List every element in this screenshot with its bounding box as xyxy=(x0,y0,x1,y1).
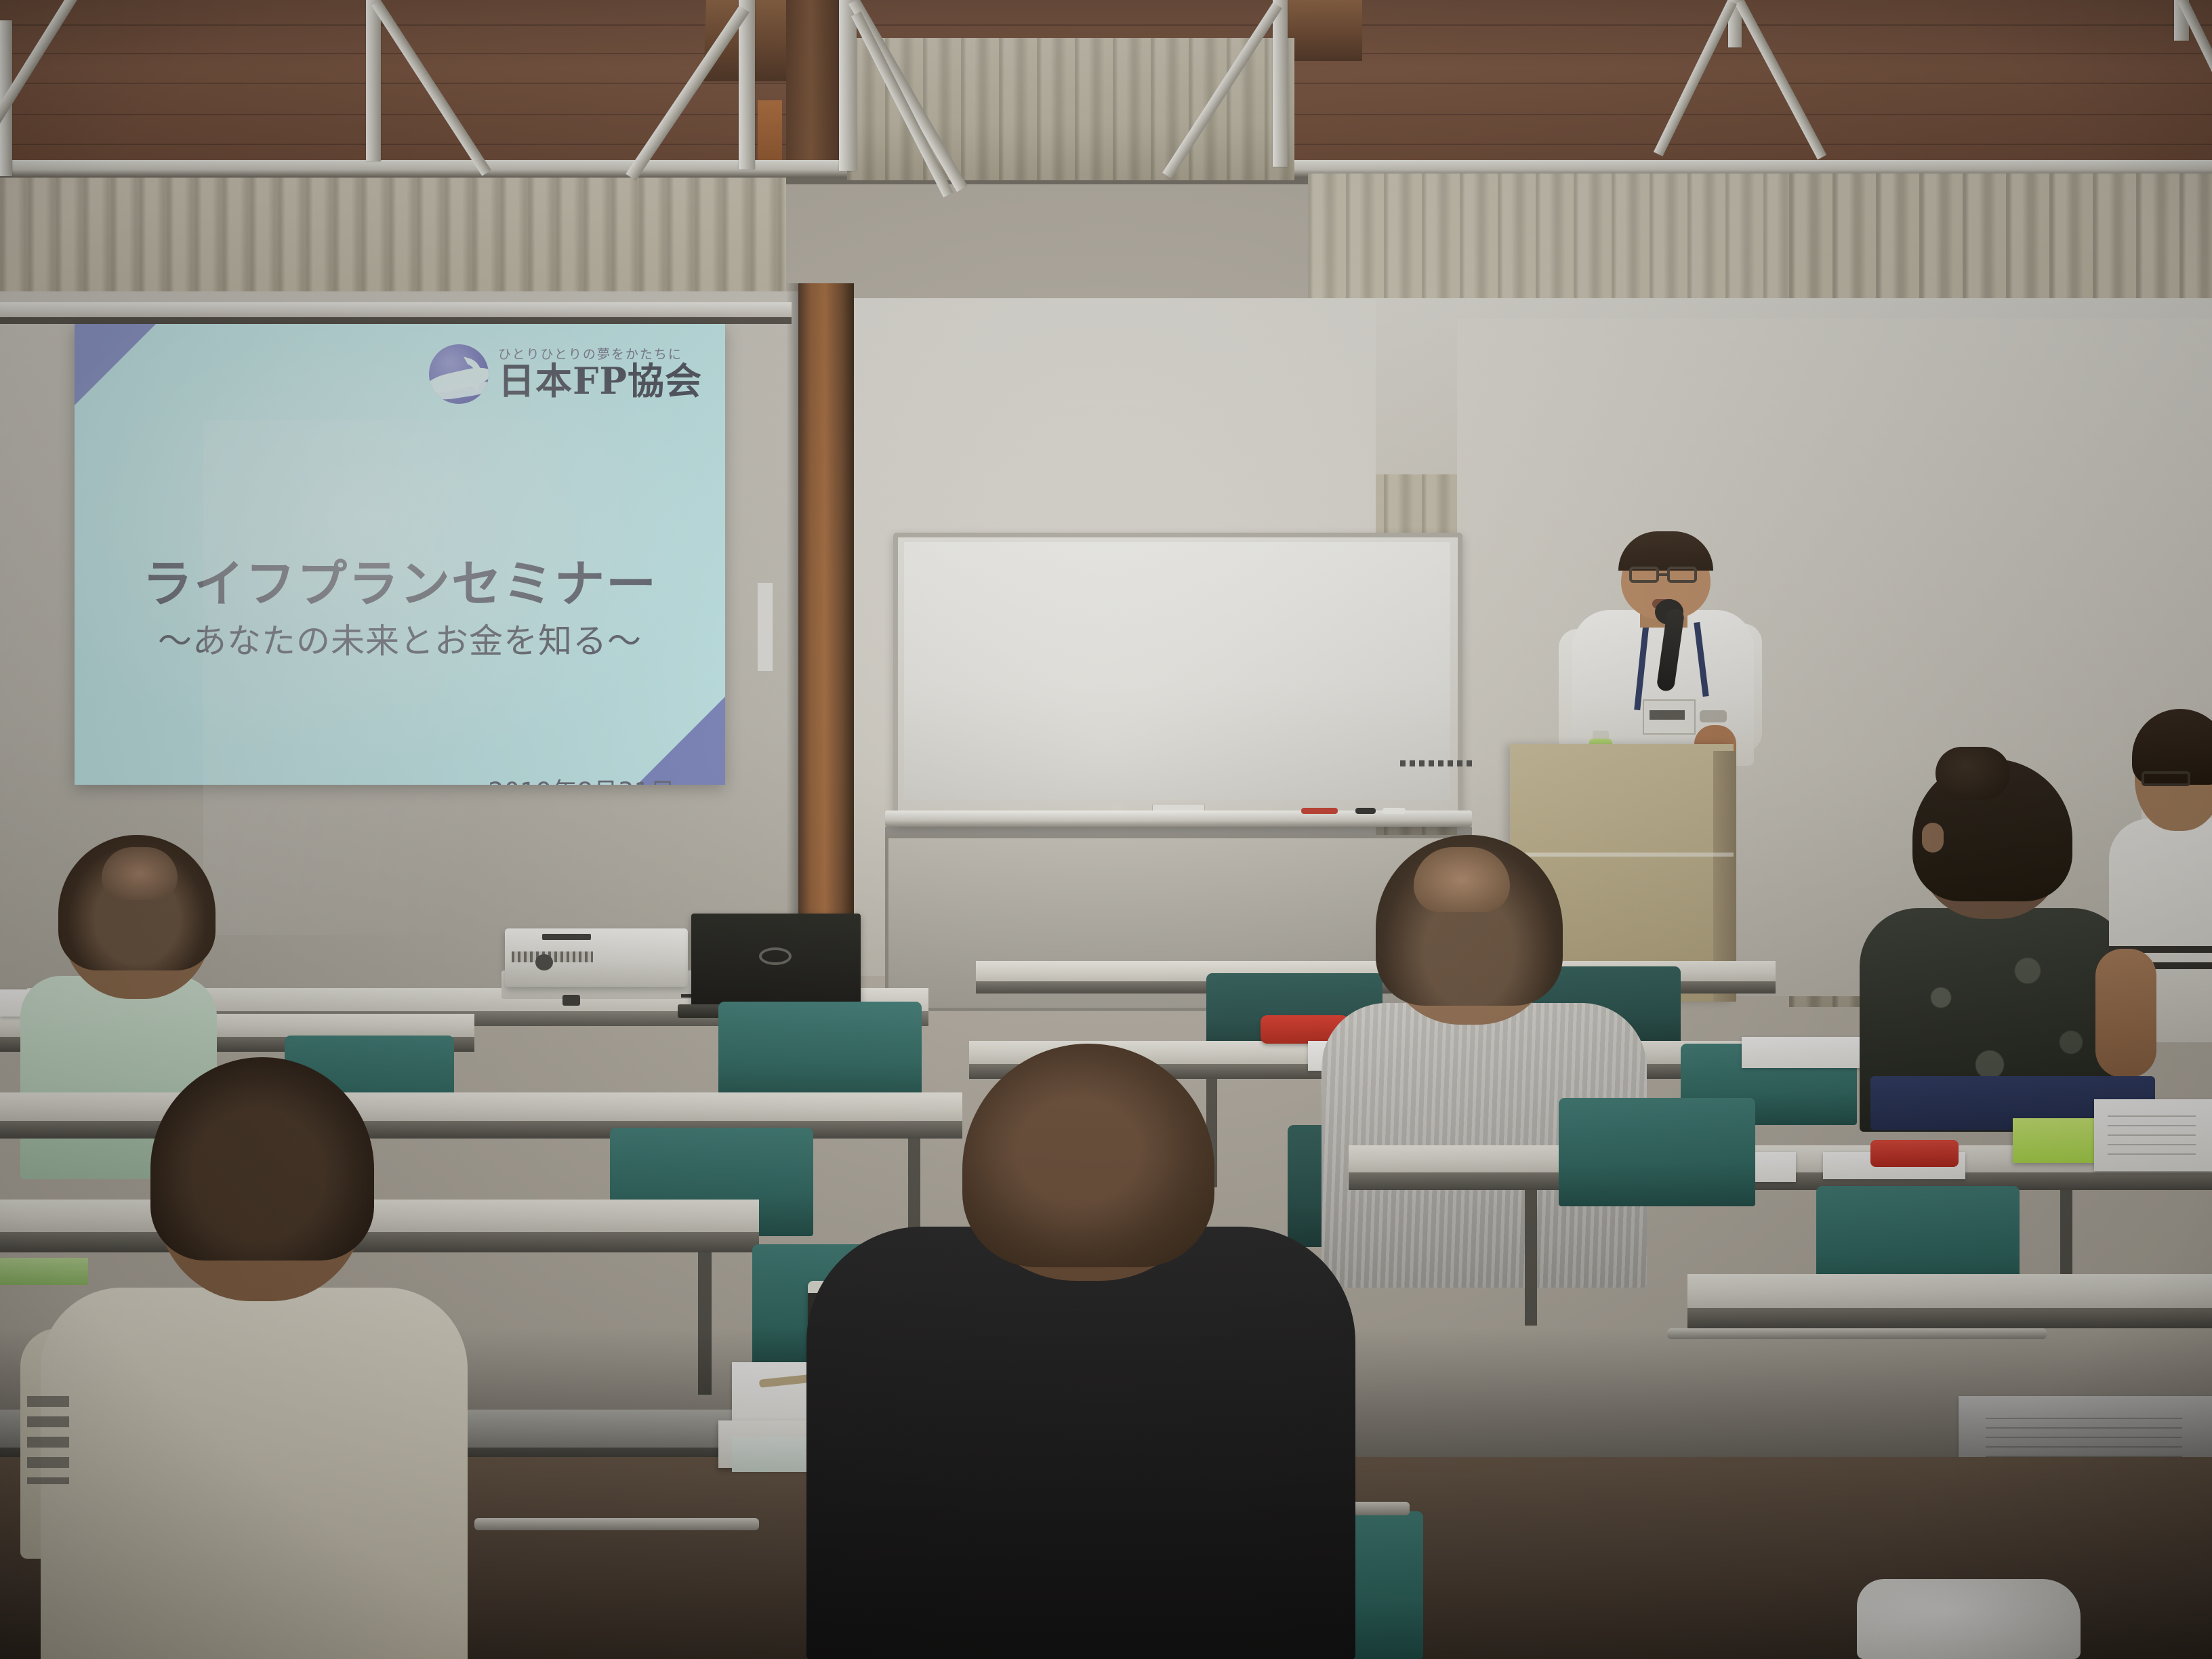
chair-back xyxy=(718,1002,922,1103)
fp-globe-wave-mark-icon xyxy=(429,344,489,404)
wooden-post xyxy=(798,283,854,1022)
attendee-black-top-torso xyxy=(806,1227,1355,1659)
slide-title: ライフプランセミナー xyxy=(75,544,725,616)
projector-top-slot xyxy=(542,934,591,940)
green-item-left xyxy=(0,1258,88,1285)
projection-screen: ひとりひとりの夢をかたちに 日本FP協会 ライフプランセミナー ～あなたの未来と… xyxy=(75,324,725,785)
projector-lens-icon xyxy=(535,954,553,970)
eyeglasses-icon xyxy=(1629,567,1659,583)
black-marker-icon xyxy=(1355,808,1376,814)
screen-frame-top xyxy=(0,302,792,317)
desk-left-front xyxy=(0,1200,759,1232)
projector-foot xyxy=(562,995,580,1006)
whiteboard-magnets xyxy=(1400,760,1475,766)
eyeglasses-bridge xyxy=(1659,573,1668,576)
desk-left-middle xyxy=(0,1092,962,1121)
truss-vertical xyxy=(739,0,755,169)
slide-subtitle: ～あなたの未来とお金を知る～ xyxy=(75,614,725,663)
white-marker-icon xyxy=(1382,808,1406,814)
desk-leg xyxy=(1525,1190,1537,1326)
desk-edge xyxy=(0,1121,962,1139)
name-badge-text xyxy=(1650,710,1685,720)
eyeglasses-icon xyxy=(2142,771,2190,786)
slide-date: 2019年8月31日 xyxy=(488,771,675,785)
attendee-cream-tee-torso xyxy=(41,1288,468,1659)
whiteboard-tray-shadow xyxy=(885,827,1472,835)
screen-frame-shadow xyxy=(0,317,792,324)
chair-back xyxy=(1559,1098,1755,1206)
post-shadow xyxy=(786,283,800,1022)
truss-vertical xyxy=(366,0,381,161)
attendee-grey-stripe-scalp xyxy=(1414,847,1510,912)
logo-name: 日本FP協会 xyxy=(498,362,702,401)
red-marker-icon xyxy=(1301,808,1338,814)
attendee-floral-top-hair-bun xyxy=(1935,747,2010,800)
attendee-floral-top-ear xyxy=(1922,823,1944,853)
fp-association-logo: ひとりひとりの夢をかたちに 日本FP協会 xyxy=(429,344,702,404)
truss-vertical xyxy=(839,0,857,171)
podium-seam xyxy=(1510,853,1734,857)
desk-edge xyxy=(0,1232,759,1252)
attendee-white-trim-arm xyxy=(2095,949,2156,1078)
whiteboard-surface xyxy=(904,542,1450,800)
white-cloth xyxy=(1857,1579,2081,1659)
projected-slide: ひとりひとりの夢をかたちに 日本FP協会 ライフプランセミナー ～あなたの未来と… xyxy=(75,324,725,785)
wooden-post-upper xyxy=(786,0,847,169)
paper-text-lines xyxy=(2108,1115,2196,1155)
seminar-room-photo: ひとりひとりの夢をかたちに 日本FP協会 ライフプランセミナー ～あなたの未来と… xyxy=(0,0,2212,1659)
eyeglasses-icon xyxy=(1667,567,1697,583)
wristwatch-icon xyxy=(1700,710,1727,722)
desk-edge xyxy=(1687,1308,2212,1328)
sleeve-print-graphic xyxy=(27,1396,69,1484)
fujitsu-infinity-logo-icon xyxy=(759,947,792,965)
desk-front-right xyxy=(1687,1274,2212,1308)
wall-notice-strip xyxy=(758,583,773,671)
chair-frame-rail xyxy=(474,1518,759,1530)
truss-vertical xyxy=(1273,0,1288,167)
attendee-mint-shirt-scalp xyxy=(102,847,178,900)
red-clip-item xyxy=(1870,1140,1959,1167)
